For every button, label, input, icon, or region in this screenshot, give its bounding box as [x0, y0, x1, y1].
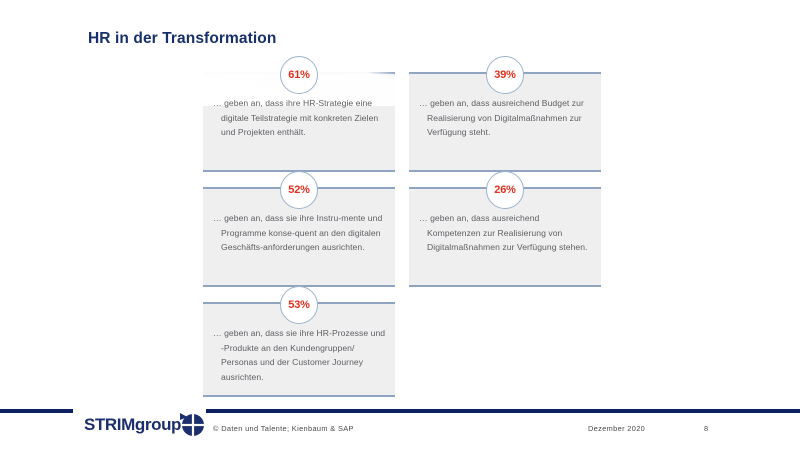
- percent-badge: 39%: [486, 56, 524, 94]
- stat-card-text: … geben an, dass sie ihre Instru-mente u…: [213, 211, 387, 255]
- stat-card[interactable]: 39% … geben an, dass ausreichend Budget …: [409, 72, 601, 172]
- page-title: HR in der Transformation: [88, 30, 276, 48]
- percent-value: 52%: [288, 185, 309, 196]
- footer-copyright: © Daten und Talente; Kienbaum & SAP: [213, 424, 354, 433]
- stat-card[interactable]: 26% … geben an, dass ausreichend Kompete…: [409, 187, 601, 287]
- stat-card-grid: 61% … geben an, dass ihre HR-Strategie e…: [203, 72, 593, 397]
- stat-card-text: … geben an, dass ausreichend Kompetenzen…: [419, 211, 593, 255]
- stat-card-text: … geben an, dass ihre HR-Strategie eine …: [213, 96, 387, 140]
- footer-page-number: 8: [704, 424, 708, 433]
- percent-badge: 52%: [280, 171, 318, 209]
- percent-badge: 26%: [486, 171, 524, 209]
- brand-logo-strim: STRIM: [84, 415, 135, 434]
- stat-card[interactable]: 52% … geben an, dass sie ihre Instru-men…: [203, 187, 395, 287]
- stat-card[interactable]: 61% … geben an, dass ihre HR-Strategie e…: [203, 72, 395, 172]
- brand-logo-group: group: [135, 415, 181, 434]
- slide-canvas: HR in der Transformation 61% … geben an,…: [0, 0, 800, 450]
- footer-date: Dezember 2020: [588, 424, 645, 433]
- percent-value: 39%: [494, 70, 515, 81]
- footer-divider-right: [206, 409, 800, 413]
- percent-badge: 53%: [280, 286, 318, 324]
- percent-value: 53%: [288, 300, 309, 311]
- percent-badge: 61%: [280, 56, 318, 94]
- brand-logo: STRIMgroup: [84, 411, 205, 437]
- stat-card[interactable]: 53% … geben an, dass sie ihre HR-Prozess…: [203, 302, 395, 397]
- brand-logo-circle-icon: [178, 411, 205, 438]
- stat-card-text: … geben an, dass ausreichend Budget zur …: [419, 96, 593, 140]
- brand-logo-wordmark: STRIMgroup: [84, 416, 181, 433]
- percent-value: 26%: [494, 185, 515, 196]
- stat-card-text: … geben an, dass sie ihre HR-Prozesse un…: [213, 326, 387, 384]
- footer-divider-left: [0, 409, 73, 413]
- percent-value: 61%: [288, 70, 309, 81]
